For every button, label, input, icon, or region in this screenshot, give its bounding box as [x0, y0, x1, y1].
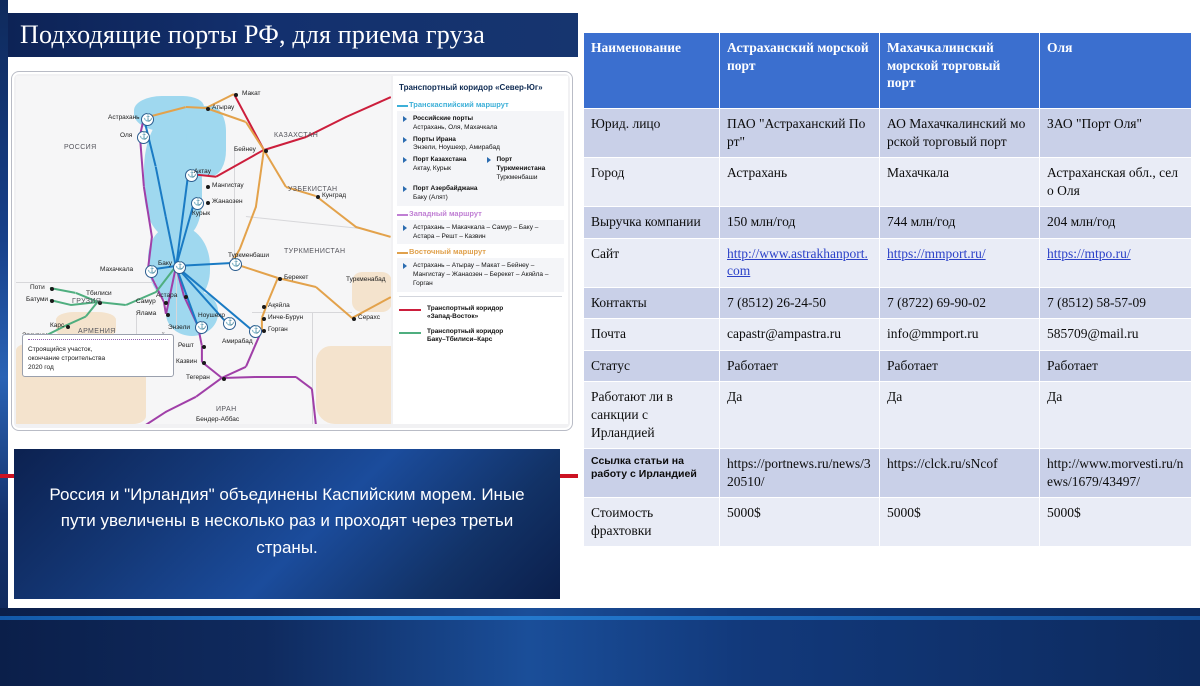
legend-corridor-item: Транспортный коридорБаку–Тбилиси–Карс [393, 324, 568, 347]
city-dot [202, 361, 206, 365]
row-label: Работают ли в санкции с Ирландией [584, 382, 720, 449]
country-label: ТУРКМЕНИСТАН [284, 248, 345, 255]
city-label: Бейнеу [234, 146, 256, 153]
port-anchor-icon [173, 261, 186, 274]
table-cell: Астрахань [720, 158, 880, 207]
port-anchor-icon [249, 325, 262, 338]
city-dot [164, 301, 168, 305]
city-label: Решт [178, 342, 194, 349]
table-cell: Работает [720, 350, 880, 382]
table-cell[interactable]: https://mmport.ru/ [880, 238, 1040, 287]
table-body: Юрид. лицоПАО "Астраханский Порт"АО Маха… [584, 109, 1192, 547]
city-dot [206, 185, 210, 189]
table-cell: Работает [880, 350, 1040, 382]
city-label: Туркменбаши [228, 252, 269, 259]
country-label: КАЗАХСТАН [274, 132, 318, 139]
city-label: Амирабад [222, 338, 253, 345]
city-label: Курык [192, 210, 210, 217]
city-dot [264, 149, 268, 153]
table-cell: 744 млн/год [880, 207, 1040, 239]
city-label: Ноушехр [198, 312, 225, 319]
row-label: Почта [584, 319, 720, 351]
legend-route-label: Западный маршрут [393, 206, 568, 220]
table-cell: info@mmport.ru [880, 319, 1040, 351]
page-title: Подходящие порты РФ, для приема груза [8, 13, 578, 57]
table-cell: http://www.morvesti.ru/news/1679/43497/ [1040, 449, 1192, 498]
table-cell: 204 млн/год [1040, 207, 1192, 239]
row-label: Стоимость фрахтовки [584, 498, 720, 547]
map-route [256, 376, 296, 378]
table-row: Выручка компании150 млн/год744 млн/год20… [584, 207, 1192, 239]
city-label: Карс [50, 322, 64, 329]
city-label: Ялама [136, 310, 156, 317]
table-cell: 7 (8512) 26-24-50 [720, 287, 880, 319]
legend-item: Российские портыАстрахань, Оля, Махачкал… [397, 113, 564, 134]
city-dot [184, 295, 188, 299]
port-anchor-icon [229, 258, 242, 271]
city-dot [262, 317, 266, 321]
city-label: Батуми [26, 296, 48, 303]
city-dot [278, 277, 282, 281]
city-label: Серахс [358, 314, 380, 321]
table-cell: 7 (8512) 58-57-09 [1040, 287, 1192, 319]
legend-item: Порты ИранаЭнзели, Ноушехр, Амирабад [397, 134, 564, 155]
table-row: ГородАстраханьМахачкалаАстраханская обл.… [584, 158, 1192, 207]
city-label: Макат [242, 90, 261, 97]
legend-corridor-item: Транспортный коридор«Запад-Восток» [393, 301, 568, 324]
bullet-triangle-icon [403, 225, 407, 231]
bullet-triangle-icon [403, 157, 407, 163]
city-label: Казвин [176, 358, 197, 365]
table-header-cell-3: Оля [1040, 33, 1192, 109]
slide-left-panel: Подходящие порты РФ, для приема груза Ас… [0, 0, 578, 686]
row-label: Контакты [584, 287, 720, 319]
table-cell[interactable]: http://www.astrakhanport.com [720, 238, 880, 287]
city-dot [50, 287, 54, 291]
city-label: Атырау [212, 104, 234, 111]
legend-title: Транспортный коридор «Север-Юг» [393, 76, 568, 97]
city-dot [50, 299, 54, 303]
table-cell: Астраханская обл., село Оля [1040, 158, 1192, 207]
city-label: Кунград [322, 192, 346, 199]
city-dot [352, 317, 356, 321]
legend-color-swatch [399, 332, 421, 334]
city-label: Ақяйла [268, 302, 290, 309]
legend-item: Астрахань – Атырау – Макат – Бейнеу – Ма… [397, 260, 564, 289]
ports-table-panel: НаименованиеАстраханский морской портМах… [578, 0, 1200, 686]
city-label: Туркменабад [346, 276, 386, 283]
map-shape [186, 106, 226, 176]
bullet-triangle-icon [403, 186, 407, 192]
map-figure: АстраханьОляМахачкалаАтырауМакатБейнеуАк… [12, 72, 572, 430]
row-label: Город [584, 158, 720, 207]
city-label: Астрахань [108, 114, 140, 121]
legend-item: Порт ТуркменистанаТуркменбаши [481, 154, 565, 183]
table-row: Ссылка статьи на работу с Ирландиейhttps… [584, 449, 1192, 498]
dashed-line-sample [28, 339, 168, 343]
table-row: Юрид. лицоПАО "Астраханский Порт"АО Маха… [584, 109, 1192, 158]
table-cell: https://portnews.ru/news/320510/ [720, 449, 880, 498]
city-dot [234, 93, 238, 97]
port-anchor-icon [191, 197, 204, 210]
table-cell: ЗАО "Порт Оля" [1040, 109, 1192, 158]
port-anchor-icon [141, 113, 154, 126]
legend-color-swatch [397, 214, 408, 216]
cell-link[interactable]: https://mmport.ru/ [887, 246, 986, 261]
map-legend: Транспортный коридор «Север-Юг»Транскасп… [393, 76, 568, 424]
legend-item: Порт КазахстанаАктау, Курык [397, 154, 481, 183]
bullet-triangle-icon [403, 116, 407, 122]
map-canvas: АстраханьОляМахачкалаАтырауМакатБейнеуАк… [16, 76, 391, 424]
table-row: Работают ли в санкции с ИрландиейДаДаДа [584, 382, 1192, 449]
table-cell: Да [880, 382, 1040, 449]
city-label: Самур [136, 298, 156, 305]
city-label: Поти [30, 284, 45, 291]
table-cell: АО Махачкалинский морской торговый порт [880, 109, 1040, 158]
table-header-cell-0: Наименование [584, 33, 720, 109]
port-anchor-icon [137, 131, 150, 144]
legend-color-swatch [399, 309, 421, 311]
city-dot [316, 195, 320, 199]
table-cell: 5000$ [720, 498, 880, 547]
city-dot [222, 377, 226, 381]
table-cell: Да [720, 382, 880, 449]
city-label: Инче-Бурун [268, 314, 303, 321]
city-label: Махачкала [100, 266, 133, 273]
city-label: Берекет [284, 274, 308, 281]
bullet-triangle-icon [403, 137, 407, 143]
legend-color-swatch [397, 252, 408, 254]
row-label: Сайт [584, 238, 720, 287]
country-label: ГРУЗИЯ [72, 298, 101, 305]
city-dot [166, 313, 170, 317]
table-row: Почтаcapastr@ampastra.ruinfo@mmport.ru58… [584, 319, 1192, 351]
bullet-triangle-icon [487, 157, 491, 163]
table-cell: Работает [1040, 350, 1192, 382]
caption-text: Россия и "Ирландия" объединены Каспийски… [14, 449, 560, 561]
city-label: Оля [120, 132, 132, 139]
table-header-cell-2: Махачкалинский морской торговый порт [880, 33, 1040, 109]
city-dot [206, 107, 210, 111]
city-label: Бендер-Аббас [196, 416, 239, 423]
table-header-cell-1: Астраханский морской порт [720, 33, 880, 109]
city-label: Горган [268, 326, 288, 333]
table-cell: Да [1040, 382, 1192, 449]
city-label: Жанаозен [212, 198, 243, 205]
ports-comparison-table: НаименованиеАстраханский морской портМах… [583, 32, 1192, 547]
country-label: УЗБЕКИСТАН [288, 186, 337, 193]
table-cell: ПАО "Астраханский Порт" [720, 109, 880, 158]
table-cell: Махачкала [880, 158, 1040, 207]
city-label: Астара [156, 292, 177, 299]
city-dot [66, 325, 70, 329]
country-label: ИРАН [216, 406, 237, 413]
table-cell: 5000$ [880, 498, 1040, 547]
table-row: СтатусРаботаетРаботаетРаботает [584, 350, 1192, 382]
city-label: Баку [158, 260, 172, 267]
legend-item: Астрахань – Макачкала – Самур – Баку – А… [397, 222, 564, 243]
legend-route-label: Восточный маршрут [393, 244, 568, 258]
city-dot [206, 201, 210, 205]
city-label: Мангистау [212, 182, 244, 189]
city-dot [202, 345, 206, 349]
map-shape [316, 346, 391, 424]
row-label: Выручка компании [584, 207, 720, 239]
city-dot [262, 305, 266, 309]
row-label: Ссылка статьи на работу с Ирландией [584, 449, 720, 498]
city-label: Тбилиси [86, 290, 112, 297]
map-note-box: Строящийся участок,окончание строительст… [22, 334, 174, 377]
table-head: НаименованиеАстраханский морской портМах… [584, 33, 1192, 109]
bottom-accent-line [0, 616, 1200, 620]
port-anchor-icon [195, 321, 208, 334]
map-shape [16, 282, 156, 283]
country-label: РОССИЯ [64, 144, 97, 151]
city-label: Актау [194, 168, 211, 175]
slide-title-bar: Подходящие порты РФ, для приема груза [8, 13, 578, 57]
table-cell[interactable]: https://mtpo.ru/ [1040, 238, 1192, 287]
table-row: Контакты7 (8512) 26-24-507 (8722) 69-90-… [584, 287, 1192, 319]
legend-divider [399, 296, 562, 297]
caption-box: Россия и "Ирландия" объединены Каспийски… [14, 449, 560, 599]
cell-link[interactable]: http://www.astrakhanport.com [727, 246, 868, 279]
legend-route-label: Транскаспийский маршрут [393, 97, 568, 111]
city-dot [262, 329, 266, 333]
legend-item: Порт АзербайджанаБаку (Алят) [397, 183, 564, 204]
table-cell: 585709@mail.ru [1040, 319, 1192, 351]
table-row: Стоимость фрахтовки5000$5000$5000$ [584, 498, 1192, 547]
table-cell: 7 (8722) 69-90-02 [880, 287, 1040, 319]
port-anchor-icon [145, 265, 158, 278]
left-accent-bar [0, 0, 8, 686]
table-cell: 5000$ [1040, 498, 1192, 547]
city-label: Тегеран [186, 374, 210, 381]
table-row: Сайтhttp://www.astrakhanport.comhttps://… [584, 238, 1192, 287]
legend-color-swatch [397, 105, 408, 107]
row-label: Юрид. лицо [584, 109, 720, 158]
table-cell: capastr@ampastra.ru [720, 319, 880, 351]
bullet-triangle-icon [403, 263, 407, 269]
row-label: Статус [584, 350, 720, 382]
city-label: Энзели [168, 324, 190, 331]
table-header-row: НаименованиеАстраханский морской портМах… [584, 33, 1192, 109]
cell-link[interactable]: https://mtpo.ru/ [1047, 246, 1131, 261]
map-shape [252, 312, 352, 313]
table-cell: 150 млн/год [720, 207, 880, 239]
table-cell: https://clck.ru/sNcof [880, 449, 1040, 498]
